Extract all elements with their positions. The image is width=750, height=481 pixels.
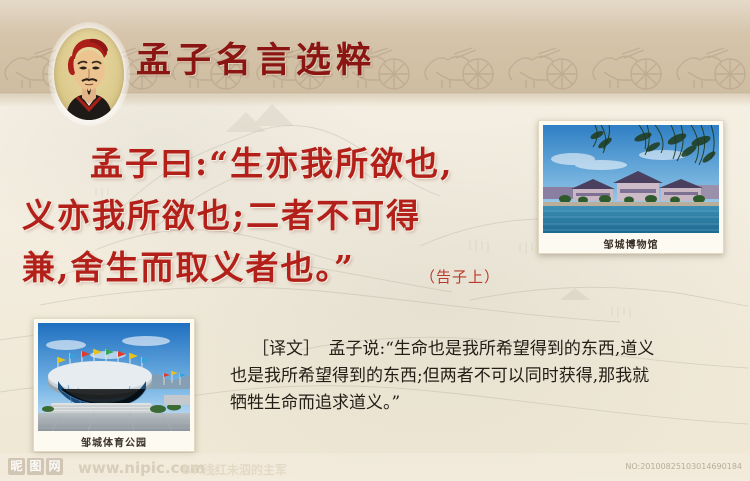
mencius-portrait-icon	[54, 28, 124, 120]
photo-sports-park-image	[38, 323, 190, 431]
watermark-number: NO:20100825103014690184	[625, 462, 742, 471]
photo-museum-image	[543, 125, 719, 233]
photo-card-museum: 邹城博物馆	[538, 120, 724, 254]
photo-card-sports-park: 邹城体育公园	[33, 318, 195, 452]
photo-caption-museum: 邹城博物馆	[543, 236, 719, 251]
nipic-logo: 昵 图 网	[8, 458, 63, 475]
watermark-author: BY:浅红未泅的主军	[182, 461, 287, 478]
nipic-logo-char-3: 网	[46, 458, 63, 475]
translation-line-2: 也是我所希望得到的东西;但两者不可以同时获得,那我就	[230, 363, 730, 390]
translation-line-3: 牺牲生命而追求道义。”	[230, 390, 730, 417]
page-title: 孟子名言选粹	[136, 32, 376, 83]
quote-source: （告子上）	[420, 266, 500, 287]
poster-canvas: 孟子名言选粹 孟子曰:“生亦我所欲也, 义亦我所欲也;二者不可得 兼,舍生而取义…	[0, 0, 750, 481]
photo-caption-sports-park: 邹城体育公园	[38, 434, 190, 449]
quote-line-2: 义亦我所欲也;二者不可得	[22, 190, 542, 242]
nipic-logo-char-1: 昵	[8, 458, 25, 475]
translation-line-1: ［译文］ 孟子说:“生命也是我所希望得到的东西,道义	[230, 336, 730, 363]
portrait-medallion	[48, 22, 130, 126]
translation-block: ［译文］ 孟子说:“生命也是我所希望得到的东西,道义 也是我所希望得到的东西;但…	[230, 336, 730, 417]
nipic-logo-char-2: 图	[27, 458, 44, 475]
quote-line-1: 孟子曰:“生亦我所欲也,	[22, 138, 542, 190]
